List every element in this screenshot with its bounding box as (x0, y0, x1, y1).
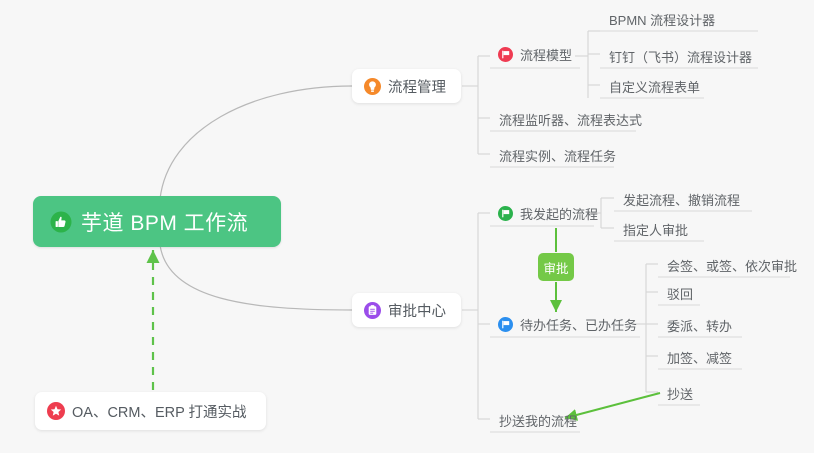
node-start-cancel-process[interactable]: 发起流程、撤销流程 (614, 185, 750, 214)
approval-tag[interactable]: 审批 (538, 253, 574, 281)
node-reject[interactable]: 驳回 (658, 279, 703, 308)
mindmap-canvas: 芋道 BPM 工作流 流程管理 流程模型 BPMN 流程设计器 钉钉（飞书）流程… (0, 0, 814, 453)
node-carbon-copy[interactable]: 抄送 (658, 379, 703, 408)
node-label: BPMN 流程设计器 (609, 10, 715, 29)
node-cc-to-me-processes[interactable]: 抄送我的流程 (490, 406, 587, 435)
node-label: 抄送 (667, 384, 693, 403)
node-label: 指定人审批 (623, 220, 688, 239)
node-assignee-approval[interactable]: 指定人审批 (614, 215, 698, 244)
node-label: 抄送我的流程 (499, 411, 577, 430)
node-process-listener-expression[interactable]: 流程监听器、流程表达式 (490, 105, 652, 134)
flag-red-icon (498, 47, 513, 62)
node-label: 加签、减签 (667, 348, 732, 367)
thumbs-up-icon (50, 211, 72, 233)
root-node[interactable]: 芋道 BPM 工作流 (33, 196, 281, 247)
flag-green-icon (498, 206, 513, 221)
star-red-icon (47, 402, 65, 420)
node-my-initiated-processes[interactable]: 我发起的流程 (490, 199, 608, 228)
node-label: 待办任务、已办任务 (520, 315, 637, 334)
node-label: 流程实例、流程任务 (499, 146, 616, 165)
node-label: 流程监听器、流程表达式 (499, 110, 642, 129)
node-add-remove-sign[interactable]: 加签、减签 (658, 343, 742, 372)
node-label: 我发起的流程 (520, 204, 598, 223)
link-root-to-process-management (160, 86, 352, 199)
node-bpmn-designer[interactable]: BPMN 流程设计器 (600, 5, 725, 34)
node-countersign-or-sequential[interactable]: 会签、或签、依次审批 (658, 251, 807, 280)
node-label: 自定义流程表单 (609, 77, 700, 96)
approval-tag-label: 审批 (543, 258, 568, 277)
node-dingtalk-feishu-designer[interactable]: 钉钉（飞书）流程设计器 (600, 42, 762, 71)
lightbulb-icon (364, 78, 381, 95)
node-label: 驳回 (667, 284, 693, 303)
node-label: 会签、或签、依次审批 (667, 256, 797, 275)
flag-blue-icon (498, 317, 513, 332)
node-delegate-transfer[interactable]: 委派、转办 (658, 311, 742, 340)
callout-node[interactable]: OA、CRM、ERP 打通实战 (35, 392, 266, 430)
node-label: 钉钉（飞书）流程设计器 (609, 47, 752, 66)
callout-label: OA、CRM、ERP 打通实战 (72, 401, 247, 422)
node-label: 委派、转办 (667, 316, 732, 335)
node-todo-done-tasks[interactable]: 待办任务、已办任务 (490, 310, 647, 339)
node-approval-center[interactable]: 审批中心 (352, 293, 461, 327)
node-label: 审批中心 (388, 300, 446, 321)
node-label: 流程模型 (520, 45, 572, 64)
clipboard-purple-icon (364, 302, 381, 319)
node-process-management[interactable]: 流程管理 (352, 69, 461, 103)
link-root-to-approval-center (160, 245, 352, 310)
node-custom-process-form[interactable]: 自定义流程表单 (600, 72, 710, 101)
node-label: 流程管理 (388, 76, 446, 97)
node-process-instance-task[interactable]: 流程实例、流程任务 (490, 141, 626, 170)
root-label: 芋道 BPM 工作流 (81, 207, 248, 237)
node-process-model[interactable]: 流程模型 (490, 40, 582, 69)
node-label: 发起流程、撤销流程 (623, 190, 740, 209)
